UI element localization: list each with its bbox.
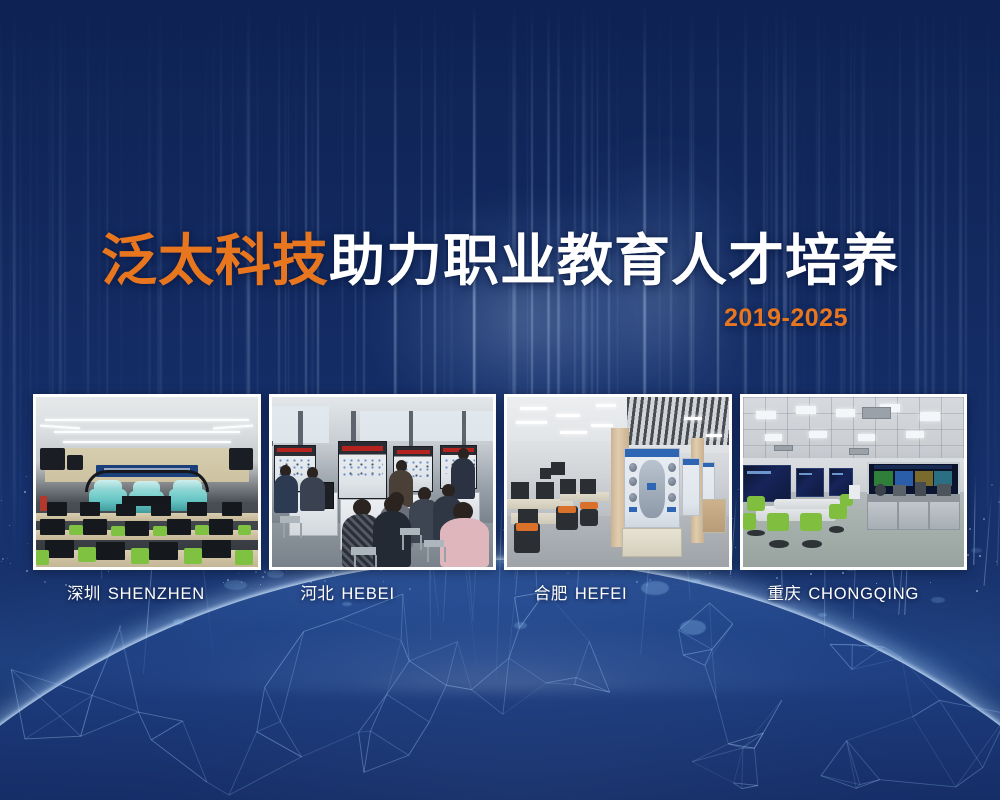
caption-cn: 深圳 (67, 585, 101, 603)
date-range: 2019-2025 (0, 304, 848, 333)
title-rest: 助力职业教育人才培养 (329, 229, 899, 292)
caption-en: HEFEI (575, 585, 628, 603)
caption-hefei: 合肥HEFEI (500, 580, 734, 610)
photo-hebei (272, 397, 494, 567)
photo-card-hebei[interactable] (269, 394, 497, 570)
caption-hebei: 河北HEBEI (267, 580, 501, 610)
center-glow-secondary (502, 25, 838, 414)
photo-chongqing (743, 397, 965, 567)
caption-en: HEBEI (341, 585, 395, 603)
photo-card-chongqing[interactable] (740, 394, 968, 570)
photo-hefei (507, 397, 729, 567)
caption-en: SHENZHEN (108, 585, 205, 603)
title-block: 泛太科技助力职业教育人才培养 2019-2025 (0, 232, 1000, 333)
photo-shenzhen (36, 397, 258, 567)
caption-cn: 合肥 (534, 585, 568, 603)
caption-cn: 河北 (301, 585, 335, 603)
page-title: 泛太科技助力职业教育人才培养 (0, 232, 1000, 290)
caption-cn: 重庆 (768, 585, 802, 603)
caption-shenzhen: 深圳SHENZHEN (33, 580, 267, 610)
photo-gallery (33, 394, 967, 570)
caption-row: 深圳SHENZHEN 河北HEBEI 合肥HEFEI 重庆CHONGQING (33, 580, 967, 610)
caption-chongqing: 重庆CHONGQING (734, 580, 968, 610)
photo-card-shenzhen[interactable] (33, 394, 261, 570)
poster-canvas: 泛太科技助力职业教育人才培养 2019-2025 (0, 0, 1000, 800)
caption-en: CHONGQING (808, 585, 919, 603)
photo-card-hefei[interactable] (504, 394, 732, 570)
brand-name: 泛太科技 (101, 229, 329, 292)
